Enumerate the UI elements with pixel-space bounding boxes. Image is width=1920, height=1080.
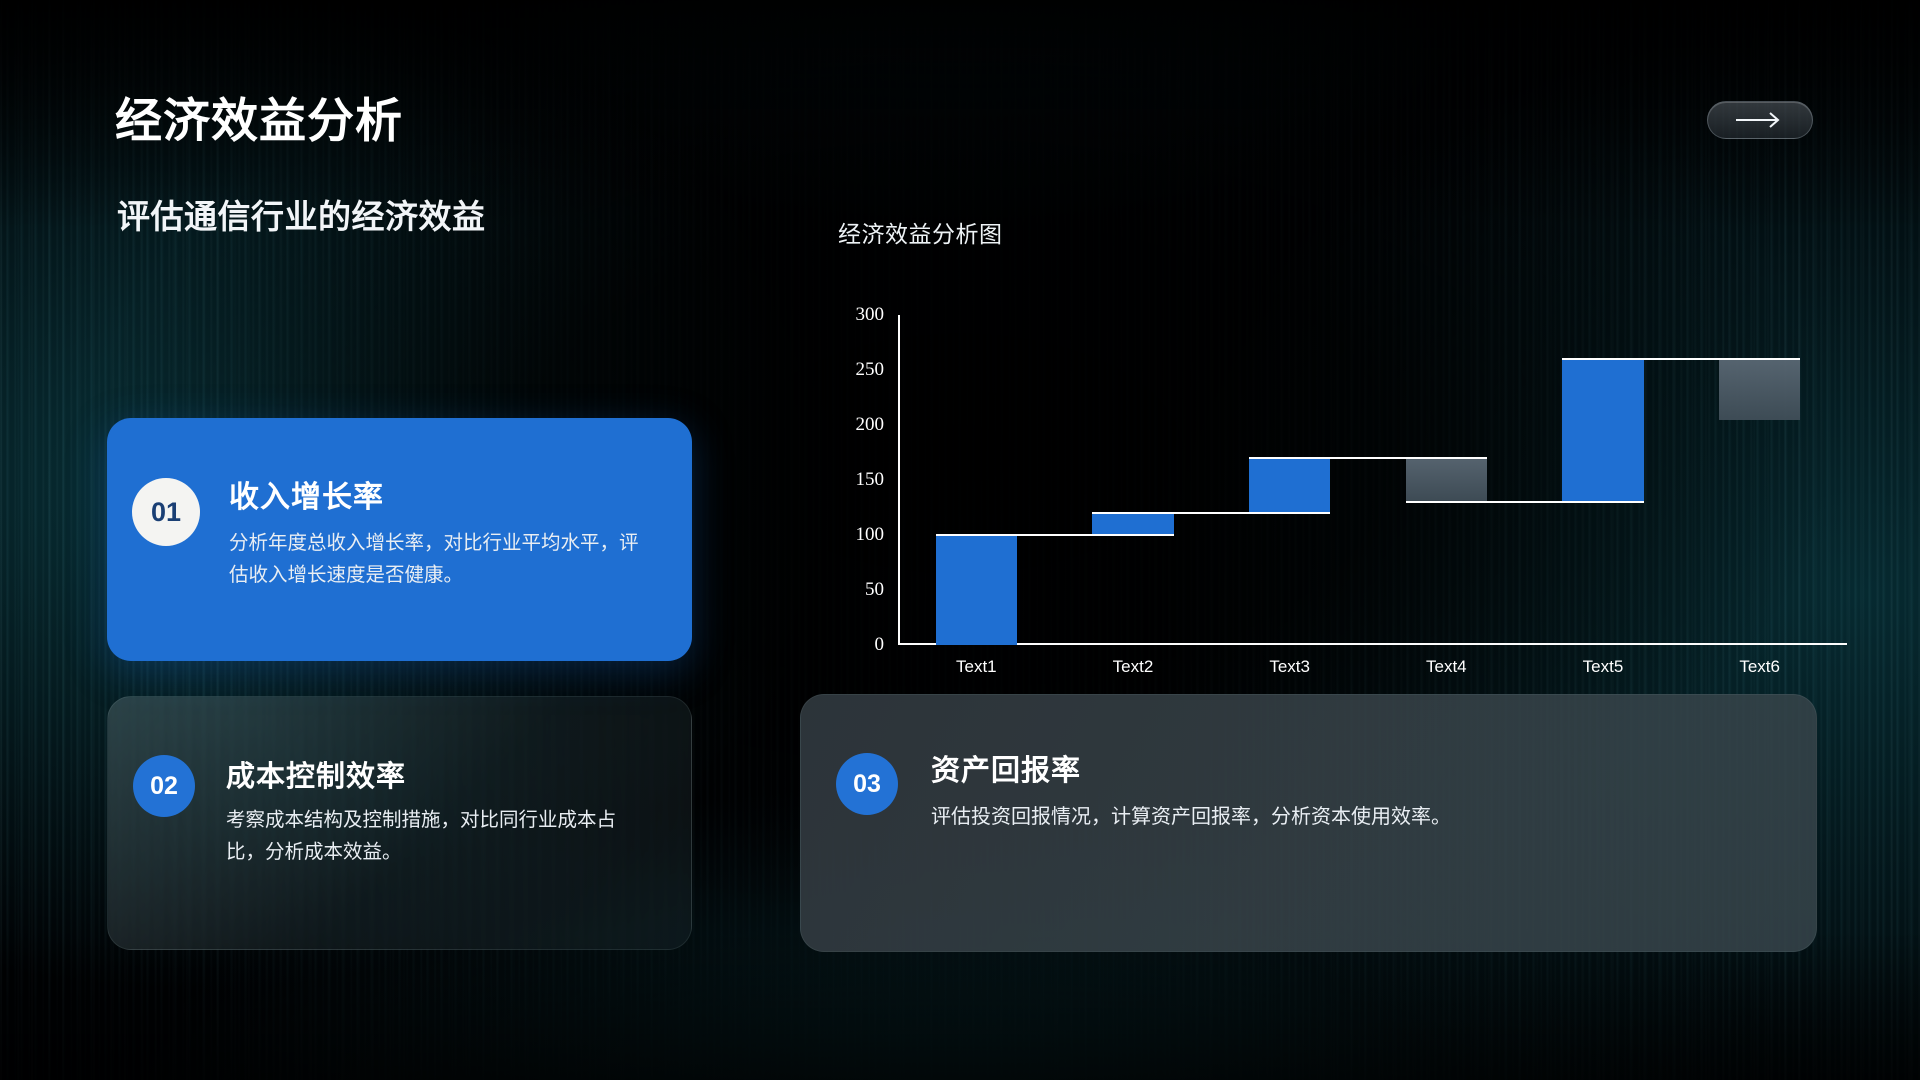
card-cost-control[interactable]: 02 成本控制效率 考察成本结构及控制措施，对比同行业成本占比，分析成本效益。	[107, 696, 692, 950]
y-axis-tick-label: 200	[856, 414, 885, 436]
x-axis-tick-label: Text4	[1426, 657, 1467, 677]
card-revenue-growth[interactable]: 01 收入增长率 分析年度总收入增长率，对比行业平均水平，评估收入增长速度是否健…	[107, 418, 692, 661]
next-slide-button[interactable]	[1707, 101, 1813, 139]
slide-stage: 经济效益分析 评估通信行业的经济效益 01 收入增长率 分析年度总收入增长率，对…	[0, 0, 1920, 1080]
card-description: 分析年度总收入增长率，对比行业平均水平，评估收入增长速度是否健康。	[229, 528, 649, 591]
card-number-badge: 02	[133, 755, 195, 817]
card-number-badge: 03	[836, 753, 898, 815]
x-axis-tick-label: Text2	[1113, 657, 1154, 677]
waterfall-bar	[1406, 458, 1487, 502]
card-title: 收入增长率	[229, 472, 384, 516]
x-axis-tick-label: Text1	[956, 657, 997, 677]
card-description: 考察成本结构及控制措施，对比同行业成本占比，分析成本效益。	[226, 805, 636, 868]
waterfall-bar	[1719, 359, 1800, 420]
x-axis-tick-label: Text5	[1583, 657, 1624, 677]
waterfall-bar	[1249, 458, 1330, 513]
waterfall-bar	[1562, 359, 1643, 502]
waterfall-connector	[1249, 457, 1487, 459]
card-title: 成本控制效率	[226, 753, 406, 795]
waterfall-bar	[1092, 513, 1173, 535]
y-axis-tick-label: 50	[865, 579, 884, 601]
waterfall-connector	[1092, 512, 1330, 514]
card-description: 评估投资回报情况，计算资产回报率，分析资本使用效率。	[931, 801, 1791, 833]
x-axis-line	[898, 643, 1847, 645]
y-axis-tick-label: 300	[856, 304, 885, 326]
waterfall-connector	[1406, 501, 1644, 503]
waterfall-bar	[936, 535, 1017, 645]
card-return-on-assets[interactable]: 03 资产回报率 评估投资回报情况，计算资产回报率，分析资本使用效率。	[800, 694, 1817, 952]
x-axis-tick-label: Text6	[1739, 657, 1780, 677]
page-title: 经济效益分析	[115, 82, 403, 151]
y-axis-tick-label: 100	[856, 524, 885, 546]
y-axis-line	[898, 315, 900, 645]
y-axis-tick-label: 0	[875, 634, 885, 656]
page-subtitle: 评估通信行业的经济效益	[117, 190, 486, 238]
chart-title: 经济效益分析图	[838, 215, 1003, 249]
arrow-right-icon	[1734, 111, 1786, 129]
x-axis-tick-label: Text3	[1269, 657, 1310, 677]
card-title: 资产回报率	[931, 747, 1081, 789]
y-axis-tick-label: 150	[856, 469, 885, 491]
waterfall-connector	[936, 534, 1174, 536]
y-axis-tick-label: 250	[856, 359, 885, 381]
waterfall-connector	[1562, 358, 1800, 360]
economic-benefit-chart: 经济效益分析图 050100150200250300 Text1Text2Tex…	[838, 215, 1848, 675]
card-number-badge: 01	[132, 478, 200, 546]
chart-plot-area: 050100150200250300 Text1Text2Text3Text4T…	[898, 315, 1838, 645]
